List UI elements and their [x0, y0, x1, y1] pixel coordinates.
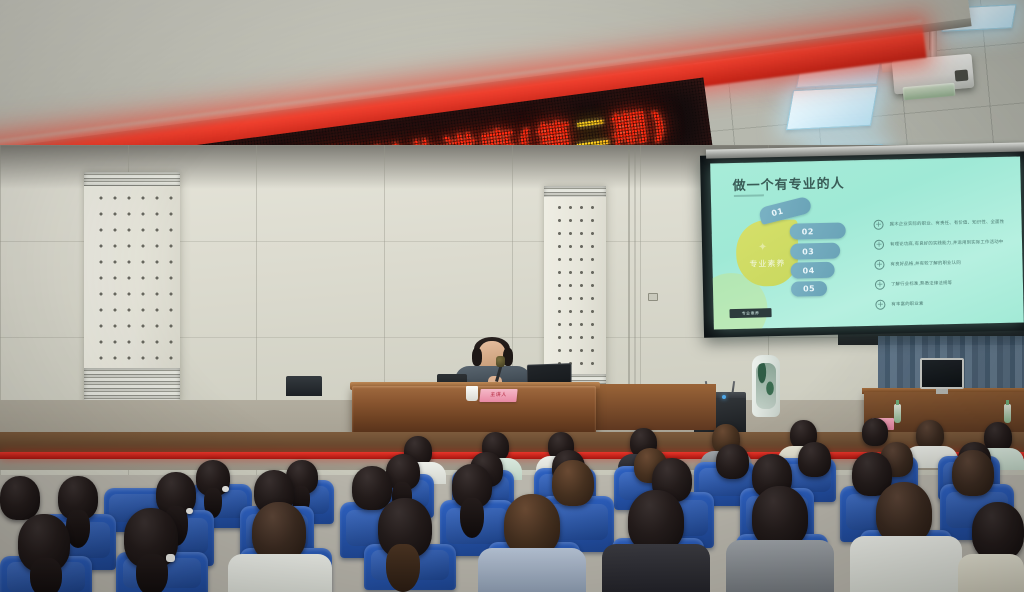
slide-bullet-1: + 属木企业实际的职业、有责任、有价值、知识性、全面性: [873, 217, 1004, 230]
audience-head: [352, 466, 392, 510]
palm-star-icon: ✦: [758, 240, 768, 253]
finger-number: 05: [803, 284, 815, 293]
audience-head: [716, 444, 749, 479]
audience-ponytail: [136, 554, 168, 592]
finger-number: 03: [802, 247, 814, 256]
audience-shoulders: [228, 554, 332, 592]
hand-finger-03: 03: [790, 243, 840, 260]
audience-head: [252, 502, 306, 562]
name-plate: 主讲人: [479, 389, 517, 402]
lecture-hall-photo: 民营企业进校园-创新创业讲座(第二期) 做一个有专业的人 ✦ 专业素养: [0, 0, 1024, 592]
microphone-icon: [496, 356, 505, 367]
audience-head: [876, 482, 932, 544]
av-power-led-icon: [722, 395, 726, 399]
audience-shoulders: [726, 540, 834, 592]
audience-head: [862, 418, 888, 446]
bullet-text: 有良好品格,并有较了解的职业认同: [890, 260, 961, 268]
slide-bullet-2: + 有理论功底,有良好的实践能力,并运用到实际工作活动中: [874, 237, 1004, 250]
hair-tie: [186, 508, 193, 514]
hair-tie: [166, 554, 175, 562]
audience-ponytail: [30, 558, 62, 592]
column-perforation: [550, 197, 600, 374]
audience-shoulders: [850, 536, 962, 592]
audience-head: [952, 450, 994, 496]
plus-circle-icon: +: [874, 260, 884, 270]
audience-ponytail: [386, 544, 420, 592]
vase-pattern: [756, 363, 776, 409]
column-slats-top: [84, 172, 180, 186]
name-plate-text: 主讲人: [479, 389, 517, 402]
projection-screen: 做一个有专业的人 ✦ 专业素养 01 02 03 04 05 + 属木企业实际的…: [700, 148, 1024, 337]
hand-finger-02: 02: [790, 222, 846, 239]
projector-connector: [955, 69, 969, 81]
audience-shoulders: [478, 548, 586, 592]
column-slats-top: [544, 186, 606, 197]
slide-bullet-3: + 有良好品格,并有较了解的职业认同: [874, 258, 961, 270]
audience-head: [798, 442, 831, 477]
slide-logo-badge: 专业素养: [729, 308, 771, 318]
bullet-text: 有丰富的职业素: [891, 301, 923, 308]
ceiling-light-panel: [786, 86, 878, 130]
wall-socket-icon: [648, 293, 658, 301]
column-slats-bottom: [84, 368, 180, 402]
audience-head: [0, 476, 40, 520]
hand-finger-05: 05: [791, 281, 827, 297]
audience-shoulders: [958, 554, 1024, 592]
audience-head: [504, 494, 560, 556]
audience-head: [552, 460, 594, 506]
slide-bullet-5: + 有丰富的职业素: [875, 299, 923, 310]
finger-number: 02: [802, 227, 814, 236]
presentation-slide: 做一个有专业的人 ✦ 专业素养 01 02 03 04 05 + 属木企业实际的…: [710, 156, 1024, 329]
slide-title-underline: [734, 194, 764, 197]
audience-head: [628, 490, 684, 552]
audience-area: [0, 418, 1024, 592]
plus-circle-icon: +: [873, 220, 883, 230]
bullet-text: 了解行业标准,熟悉法律法规等: [891, 280, 952, 287]
decorative-vase: [752, 355, 780, 417]
finger-number: 01: [771, 206, 785, 218]
audience-head: [972, 502, 1024, 560]
paper-cup: [466, 386, 478, 401]
desktop-monitor: [920, 358, 964, 389]
hair-tie: [222, 486, 229, 492]
monitor-stand: [936, 389, 948, 394]
slide-title: 做一个有专业的人: [732, 172, 844, 194]
slide-bullet-4: + 了解行业标准,熟悉法律法规等: [875, 278, 952, 290]
plus-circle-icon: +: [875, 300, 885, 310]
column-perforation: [90, 186, 174, 368]
audience-ponytail: [460, 498, 484, 538]
finger-number: 04: [803, 266, 815, 275]
bullet-text: 有理论功底,有良好的实践能力,并运用到实际工作活动中: [890, 239, 1003, 248]
bullet-text: 属木企业实际的职业、有责任、有价值、知识性、全面性: [890, 219, 1005, 228]
hand-finger-04: 04: [790, 262, 834, 279]
plus-circle-icon: +: [875, 280, 885, 290]
speaker-hair-side-left: [472, 348, 482, 366]
audience-head: [752, 486, 808, 548]
plus-circle-icon: +: [874, 240, 884, 250]
desk-microphone-unit-2: [286, 376, 322, 396]
acoustic-column-left: [84, 172, 180, 402]
audience-shoulders: [602, 544, 710, 592]
palm-label: 专业素养: [740, 258, 794, 270]
